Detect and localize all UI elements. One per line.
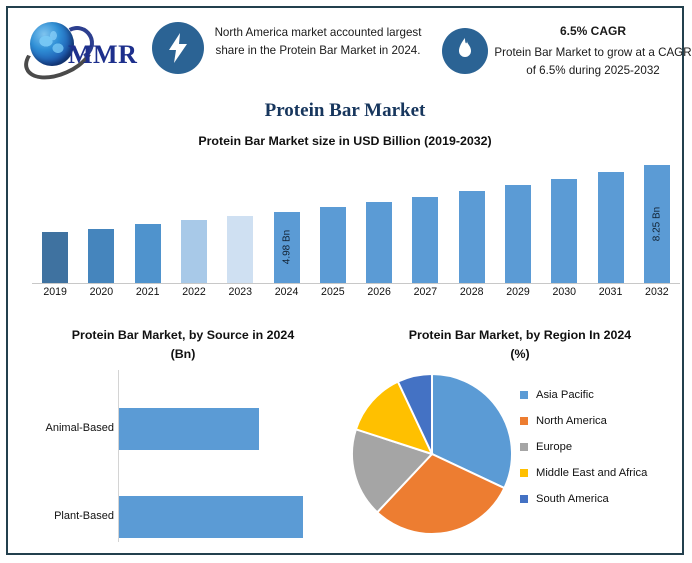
bar-2021 (135, 224, 161, 283)
x-tick-2030: 2030 (542, 286, 586, 298)
bar-2025 (320, 207, 346, 283)
legend-label: Asia Pacific (536, 389, 594, 401)
legend-item-south-america: South America (520, 486, 692, 512)
bar-2023 (227, 216, 253, 283)
x-tick-2031: 2031 (589, 286, 633, 298)
source-bar-plant-based (119, 496, 303, 538)
x-tick-2028: 2028 (450, 286, 494, 298)
bar-chart-x-axis-labels: 2019202020212022202320242025202620272028… (32, 286, 680, 304)
infographic-frame: MMR North America market accounted large… (6, 6, 684, 555)
bar-label-2032: 8.25 Bn (651, 207, 662, 241)
bar-2026 (366, 202, 392, 283)
pie-svg (350, 368, 518, 540)
x-tick-2032: 2032 (635, 286, 679, 298)
header-note-left: North America market accounted largest s… (212, 24, 424, 60)
by-region-title-line2: (%) (348, 345, 692, 364)
by-region-pie-chart: Protein Bar Market, by Region In 2024 (%… (348, 326, 692, 554)
legend-item-middle-east-and-africa: Middle East and Africa (520, 460, 692, 486)
chart-subtitle: Protein Bar Market size in USD Billion (… (8, 134, 682, 148)
legend-label: North America (536, 415, 607, 427)
x-tick-2026: 2026 (357, 286, 401, 298)
bar-2030 (551, 179, 577, 283)
legend-label: Middle East and Africa (536, 467, 647, 479)
bar-2022 (181, 220, 207, 283)
legend-label: South America (536, 493, 609, 505)
legend-swatch-icon (520, 417, 528, 425)
cagr-headline: 6.5% CAGR (494, 22, 692, 41)
bar-2028 (459, 191, 485, 283)
bar-2027 (412, 197, 438, 283)
bar-2019 (42, 232, 68, 283)
x-tick-2022: 2022 (172, 286, 216, 298)
legend-label: Europe (536, 441, 572, 453)
x-tick-2019: 2019 (33, 286, 77, 298)
market-size-bar-chart: 4.98 Bn8.25 Bn 2019202020212022202320242… (32, 154, 680, 304)
bar-chart-axis-line (32, 283, 680, 284)
lightning-bolt-icon (152, 22, 204, 74)
legend-swatch-icon (520, 443, 528, 451)
bar-2031 (598, 172, 624, 283)
x-tick-2023: 2023 (218, 286, 262, 298)
source-label-animal-based: Animal-Based (22, 422, 114, 434)
legend-item-north-america: North America (520, 408, 692, 434)
by-source-title-line1: Protein Bar Market, by Source in 2024 (22, 326, 344, 345)
header-note-right: 6.5% CAGR Protein Bar Market to grow at … (494, 22, 692, 80)
bar-2020 (88, 229, 114, 283)
cagr-description: Protein Bar Market to grow at a CAGR of … (494, 46, 691, 77)
legend-swatch-icon (520, 469, 528, 477)
by-source-bar-chart: Protein Bar Market, by Source in 2024 (B… (22, 326, 344, 554)
by-source-title: Protein Bar Market, by Source in 2024 (B… (22, 326, 344, 363)
legend-item-asia-pacific: Asia Pacific (520, 382, 692, 408)
legend-swatch-icon (520, 391, 528, 399)
bar-2024: 4.98 Bn (274, 212, 300, 283)
bar-label-2024: 4.98 Bn (281, 230, 292, 264)
bar-chart-plot-area: 4.98 Bn8.25 Bn (32, 154, 680, 283)
bar-2029 (505, 185, 531, 283)
x-tick-2027: 2027 (403, 286, 447, 298)
x-tick-2025: 2025 (311, 286, 355, 298)
x-tick-2021: 2021 (126, 286, 170, 298)
source-label-plant-based: Plant-Based (22, 510, 114, 522)
legend-swatch-icon (520, 495, 528, 503)
pie-legend: Asia PacificNorth AmericaEuropeMiddle Ea… (520, 382, 692, 512)
x-tick-2020: 2020 (79, 286, 123, 298)
logo-text: MMR (68, 40, 137, 70)
by-region-title: Protein Bar Market, by Region In 2024 (%… (348, 326, 692, 363)
by-region-title-line1: Protein Bar Market, by Region In 2024 (348, 326, 692, 345)
flame-icon (442, 28, 488, 74)
legend-item-europe: Europe (520, 434, 692, 460)
mmr-logo: MMR (20, 16, 148, 78)
bar-2032: 8.25 Bn (644, 165, 670, 283)
page-title: Protein Bar Market (8, 100, 682, 122)
by-source-title-line2: (Bn) (22, 345, 344, 364)
x-tick-2024: 2024 (265, 286, 309, 298)
header: MMR North America market accounted large… (8, 8, 682, 90)
x-tick-2029: 2029 (496, 286, 540, 298)
by-source-plot-area (118, 370, 326, 542)
source-bar-animal-based (119, 408, 259, 450)
